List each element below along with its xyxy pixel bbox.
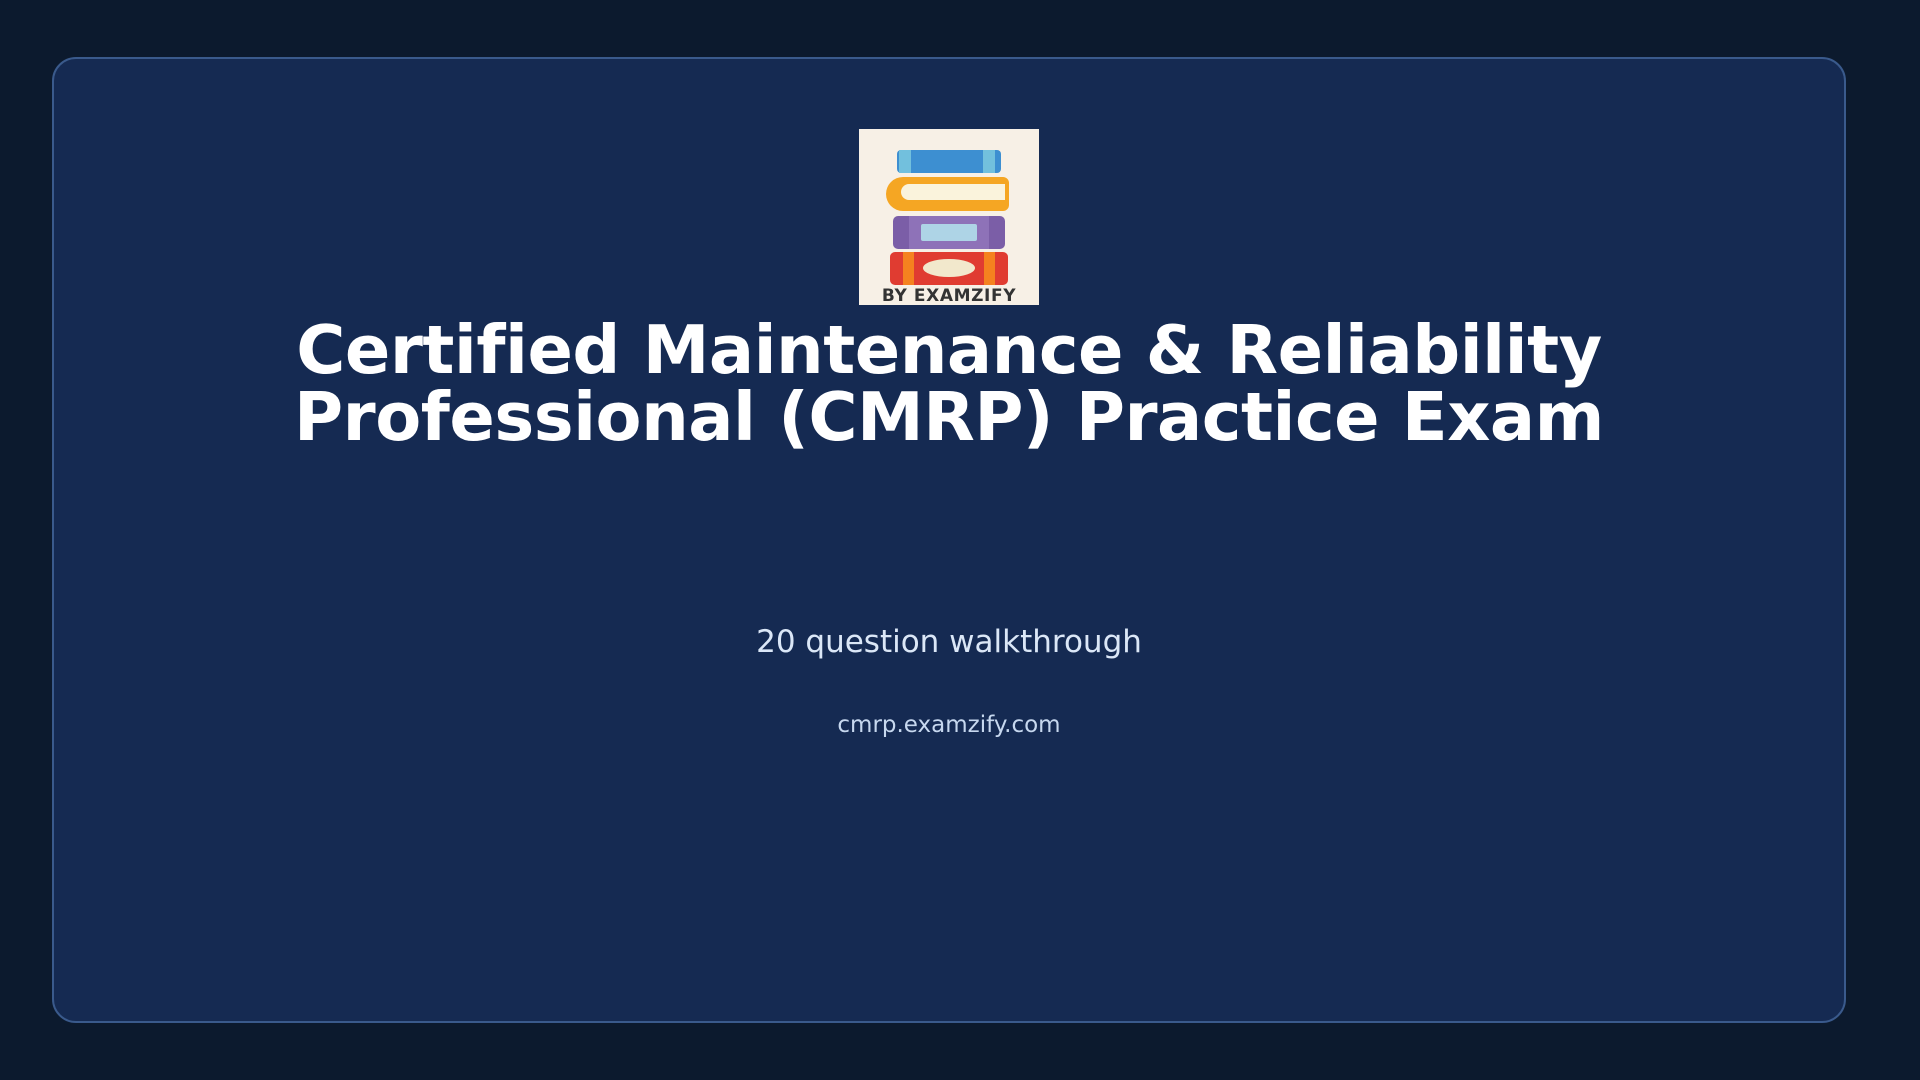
book-stack-icon: BY EXAMZIFY: [859, 129, 1039, 305]
page-title: Certified Maintenance & Reliability Prof…: [194, 317, 1704, 451]
slide-card: BY EXAMZIFY Certified Maintenance & Reli…: [52, 57, 1846, 1023]
examzify-logo: BY EXAMZIFY: [859, 129, 1039, 305]
site-url: cmrp.examzify.com: [249, 712, 1649, 740]
slide-root: BY EXAMZIFY Certified Maintenance & Reli…: [0, 0, 1920, 1080]
subtitle: 20 question walkthrough: [249, 624, 1649, 661]
logo-brand-text: BY EXAMZIFY: [882, 286, 1016, 305]
